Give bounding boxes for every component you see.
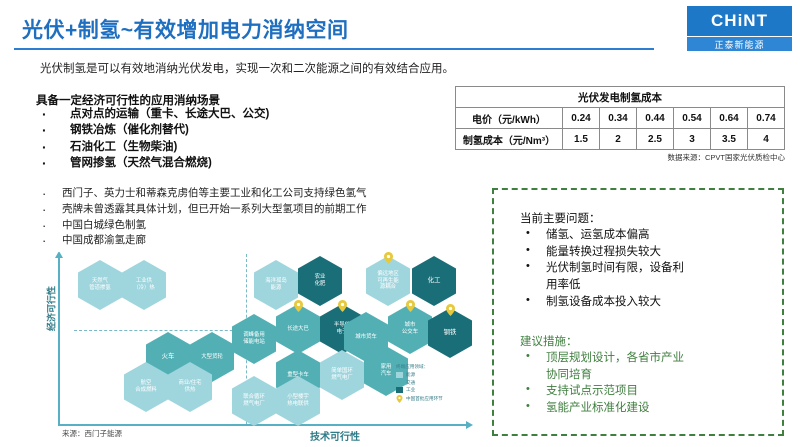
legend-swatch-icon [396,387,403,393]
table-cell: 0.54 [674,108,711,129]
table-row: 光伏发电制氢成本 [456,87,785,108]
map-pin-icon [406,300,415,312]
chart-node-label: 化工 [428,277,441,285]
chart-node-hexagon: 化工 [412,256,456,306]
map-pin-icon [294,300,303,312]
chart-node-hexagon: 联合循环燃气电厂 [232,376,276,426]
map-pin-icon [446,304,455,316]
chart-node-label: 偏远地区可再生能源耦合 [377,271,399,291]
table-cell: 2 [600,129,637,150]
chart-node-label: 联合循环燃气电厂 [243,394,265,408]
cost-table: 光伏发电制氢成本 电价（元/kWh） 0.24 0.34 0.44 0.54 0… [455,86,785,150]
slide-root: 光伏+制氢~有效增加电力消纳空间 CHiNT 正泰新能源 光伏制氢是可以有效地消… [0,0,800,447]
legend-label: 工业 [406,387,415,393]
chart-y-axis [58,256,60,426]
table-cell: 0.64 [711,108,748,129]
chart-node-label: 火车 [162,353,175,361]
list-item: 支持试点示范项目 [520,383,770,400]
table-caption: 光伏发电制氢成本 [456,87,785,108]
legend-swatch-icon [396,372,403,378]
list-item: 光伏制氢时间有限，设备利 [520,260,770,277]
list-item: 钢铁冶炼（催化剂替代) [36,122,456,138]
suggestions-list: 顶层规划设计，各省市产业 协同培育 支持试点示范项目 氢能产业标准化建设 [520,350,770,417]
map-pin-icon [338,300,347,312]
chart-x-axis-label: 技术可行性 [310,428,360,443]
list-item: 制氢设备成本投入较大 [520,294,770,311]
legend-entry-industry: 工业 [396,387,482,393]
chart-node-label: 调峰备用储能电站 [243,332,265,346]
problems-heading: 当前主要问题： [520,210,601,226]
recommendation-panel: 当前主要问题： 储氢、运氢成本偏高 能量转换过程损失较大 光伏制氢时间有限，设备… [492,188,784,436]
chart-node-hexagon: 简单国环燃气电厂 [320,350,364,400]
table-cell: 0.44 [637,108,674,129]
company-bullet-list: 西门子、英力士和蒂森克虏伯等主要工业和化工公司支持绿色氢气 壳牌未曾透露其具体计… [36,186,466,249]
brand-logo: CHiNT 正泰新能源 [687,6,792,50]
table-cell: 4 [748,129,785,150]
list-item: 石油化工（生物柴油) [36,139,456,155]
chart-source: 来源：西门子能源 [62,428,122,439]
list-item: 顶层规划设计，各省市产业 [520,350,770,367]
chart-node-label: 小型楼宇热电联供 [287,394,309,408]
chart-node-label: 海洋孤岛能源 [265,278,287,292]
table-cell: 3.5 [711,129,748,150]
chart-node-label: 城市公交车 [402,322,418,336]
lead-paragraph: 光伏制氢是可以有效地消纳光伏发电，实现一次和二次能源之间的有效结合应用。 [40,62,460,78]
chart-node-label: 家用汽车 [381,364,392,378]
chart-node-label: 长途大巴 [287,326,309,333]
list-item: 储氢、运氢成本偏高 [520,227,770,244]
list-item-continuation: 用率低 [520,277,770,294]
chart-node-label: 航空合成燃料 [135,380,157,394]
table-row: 电价（元/kWh） 0.24 0.34 0.44 0.54 0.64 0.74 [456,108,785,129]
list-item-continuation: 协同培育 [520,367,770,384]
chart-x-axis [58,424,468,426]
row-label: 电价（元/kWh） [456,108,563,129]
chart-node-label: 钢铁 [444,329,457,337]
legend-label: 交通 [406,380,415,386]
suggestions-heading: 建议措施： [520,333,578,349]
legend-swatch-icon [396,380,403,386]
chart-node-label: 城市货车 [355,334,377,341]
chart-node-label: 简单国环燃气电厂 [331,368,353,382]
row-label: 制氢成本（元/Nm³） [456,129,563,150]
scenario-bullet-list: 点对点的运输（重卡、长途大巴、公交) 钢铁冶炼（催化剂替代) 石油化工（生物柴油… [36,106,456,171]
list-item: 能量转换过程损失较大 [520,244,770,261]
list-item: 中国成都渝氢走廊 [36,233,466,249]
table-cell: 0.74 [748,108,785,129]
chart-node-label: 农业化肥 [315,274,326,288]
cost-table-wrapper: 光伏发电制氢成本 电价（元/kWh） 0.24 0.34 0.44 0.54 0… [455,86,785,150]
legend-entry-pin: 中国首批应用环节 [396,395,482,403]
chart-node-label: 商业/住宅供热 [178,380,201,394]
chart-node-hexagon: 工业供（冷）热 [122,260,166,310]
legend-entry-energy: 能源 [396,372,482,378]
chart-node-label: 天然气管道掺氢 [89,278,111,292]
list-item: 氢能产业标准化建设 [520,400,770,417]
list-item: 管网掺氢（天然气混合燃烧) [36,155,456,171]
chart-node-label: 大型货轮 [201,354,223,361]
title-divider [14,48,654,50]
table-cell: 2.5 [637,129,674,150]
list-item: 中国白城绿色制氢 [36,218,466,234]
chart-node-hexagon: 海洋孤岛能源 [254,260,298,310]
chart-node-hexagon: 调峰备用储能电站 [232,314,276,364]
table-cell: 0.34 [600,108,637,129]
table-cell: 0.24 [563,108,600,129]
legend-label: 能源 [406,372,415,378]
logo-chint-text: CHiNT [711,11,768,31]
legend-title: 终端应用领域： [396,364,482,370]
list-item: 点对点的运输（重卡、长途大巴、公交) [36,106,456,122]
map-pin-icon [396,395,403,403]
legend-entry-transport: 交通 [396,380,482,386]
chart-y-axis-label: 经济可行性 [45,274,58,344]
chart-node-label: 工业供（冷）热 [133,278,155,292]
problems-list: 储氢、运氢成本偏高 能量转换过程损失较大 光伏制氢时间有限，设备利 用率低 制氢… [520,227,770,310]
logo-subtitle-text: 正泰新能源 [714,38,764,51]
legend-label: 中国首批应用环节 [406,396,443,402]
chart-legend: 终端应用领域： 能源 交通 工业 中国首批应用环节 [396,364,482,404]
page-title: 光伏+制氢~有效增加电力消纳空间 [22,14,349,44]
table-cell: 1.5 [563,129,600,150]
feasibility-hex-chart: 经济可行性 技术可行性 来源：西门子能源 天然气管道掺氢工业供（冷）热海洋孤岛能… [18,252,484,444]
map-pin-icon [384,252,393,264]
logo-subtitle: 正泰新能源 [687,37,792,51]
table-source: 数据来源：CPVT国家光伏质检中心 [455,152,785,163]
table-row: 制氢成本（元/Nm³） 1.5 2 2.5 3 3.5 4 [456,129,785,150]
list-item: 西门子、英力士和蒂森克虏伯等主要工业和化工公司支持绿色氢气 [36,186,466,202]
chart-node-hexagon: 农业化肥 [298,256,342,306]
logo-chint: CHiNT [687,6,792,36]
list-item: 壳牌未曾透露其具体计划，但已开始一系列大型氢项目的前期工作 [36,202,466,218]
table-cell: 3 [674,129,711,150]
chart-node-hexagon: 天然气管道掺氢 [78,260,122,310]
